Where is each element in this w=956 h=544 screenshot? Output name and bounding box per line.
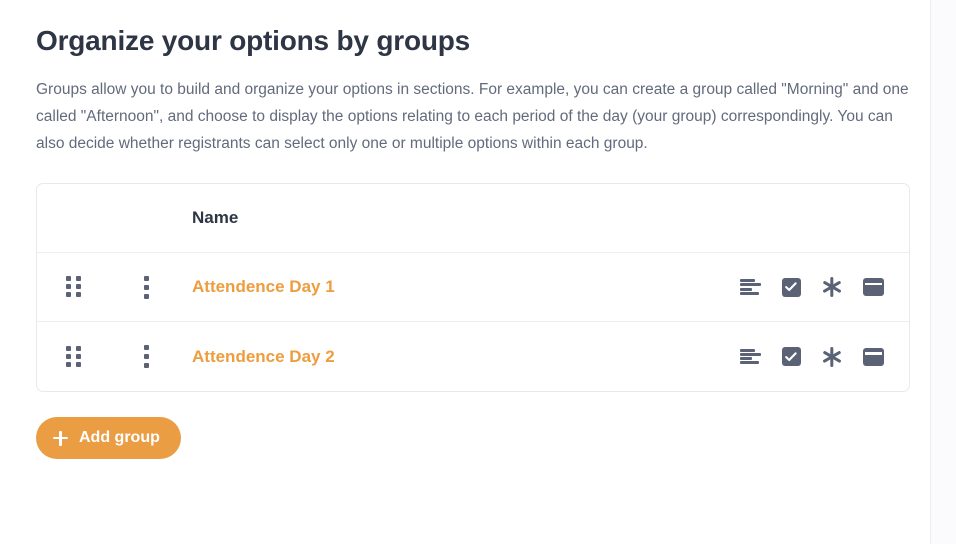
group-name-link[interactable]: Attendence Day 2	[182, 347, 335, 366]
groups-settings-page: Organize your options by groups Groups a…	[0, 0, 930, 544]
checkbox-checked-icon[interactable]	[779, 345, 803, 369]
list-align-icon[interactable]	[738, 275, 762, 299]
row-actions-cell	[738, 345, 909, 369]
table-row[interactable]: Attendence Day 1	[37, 253, 909, 322]
drag-handle-icon[interactable]	[66, 346, 81, 368]
table-row[interactable]: Attendence Day 2	[37, 322, 909, 391]
row-name-cell: Attendence Day 2	[182, 347, 738, 367]
kebab-menu-icon[interactable]	[144, 276, 149, 299]
asterisk-required-icon[interactable]	[820, 345, 844, 369]
drag-handle-icon[interactable]	[66, 276, 81, 298]
kebab-menu-icon[interactable]	[144, 345, 149, 368]
asterisk-required-icon[interactable]	[820, 275, 844, 299]
groups-table-header: Name	[37, 184, 909, 253]
groups-table: Name Attendence Day 1	[36, 183, 910, 392]
window-card-icon[interactable]	[861, 275, 885, 299]
row-name-cell: Attendence Day 1	[182, 277, 738, 297]
row-actions-cell	[738, 275, 909, 299]
row-handle-cell	[37, 276, 110, 298]
row-menu-cell	[110, 276, 182, 299]
add-group-button-label: Add group	[79, 429, 160, 447]
row-handle-cell	[37, 346, 110, 368]
page-title: Organize your options by groups	[36, 24, 910, 58]
window-card-icon[interactable]	[861, 345, 885, 369]
plus-icon	[53, 431, 68, 446]
column-header-name-label: Name	[182, 208, 238, 227]
list-align-icon[interactable]	[738, 345, 762, 369]
panel-right-gutter	[931, 0, 956, 544]
column-header-name: Name	[182, 208, 885, 228]
page-description: Groups allow you to build and organize y…	[36, 76, 910, 157]
add-group-button[interactable]: Add group	[36, 417, 181, 459]
group-name-link[interactable]: Attendence Day 1	[182, 277, 335, 296]
row-menu-cell	[110, 345, 182, 368]
checkbox-checked-icon[interactable]	[779, 275, 803, 299]
